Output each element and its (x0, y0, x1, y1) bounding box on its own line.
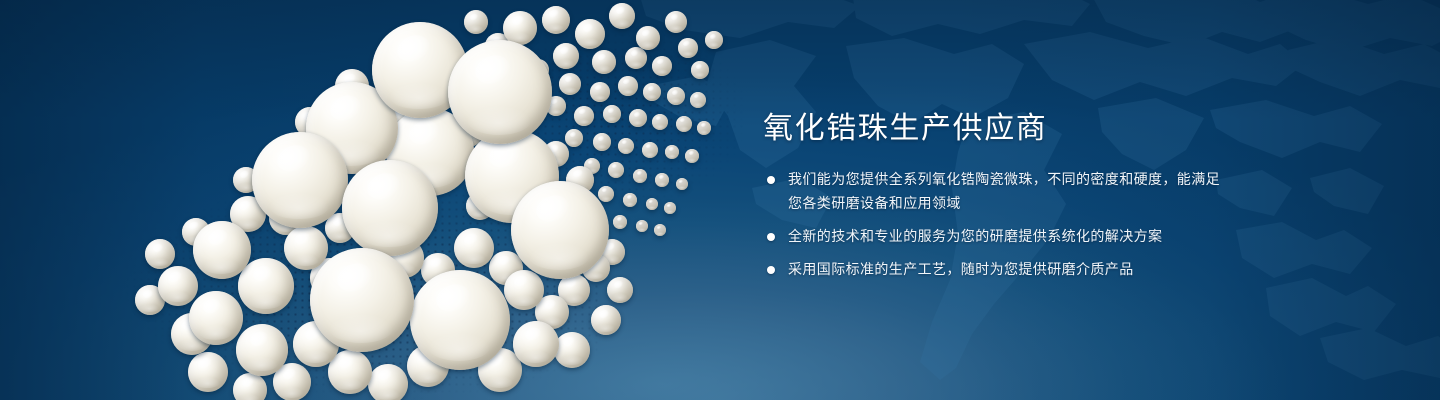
bead (667, 87, 685, 105)
bead (511, 181, 609, 279)
bead (368, 364, 408, 400)
bead (603, 105, 621, 123)
bead (642, 142, 658, 158)
bullet-dot-icon (767, 233, 775, 241)
bead (454, 228, 494, 268)
bead (236, 324, 288, 376)
bead (618, 76, 638, 96)
bead (655, 173, 669, 187)
bead (284, 226, 328, 270)
bead (238, 258, 294, 314)
bead (554, 332, 590, 368)
bead (591, 305, 621, 335)
bead (676, 116, 692, 132)
bead (252, 132, 348, 228)
bead (188, 352, 228, 392)
bead (652, 56, 672, 76)
bead (193, 221, 251, 279)
list-item-label: 采用国际标准的生产工艺，随时为您提供研磨介质产品 (788, 262, 1134, 278)
bead (633, 169, 647, 183)
bead (542, 6, 570, 34)
bead (189, 291, 243, 345)
bead (464, 10, 488, 34)
bead (310, 248, 414, 352)
bead (574, 106, 594, 126)
bead (652, 114, 668, 130)
bead (593, 133, 611, 151)
bead (158, 266, 198, 306)
bead (646, 198, 658, 210)
hero-banner: 氧化锆珠生产供应商 我们能为您提供全系列氧化锆陶瓷微珠，不同的密度和硬度，能满足… (0, 0, 1440, 400)
bead (629, 109, 647, 127)
bead (705, 31, 723, 49)
bead (623, 193, 637, 207)
bead (513, 321, 559, 367)
feature-list: 我们能为您提供全系列氧化锆陶瓷微珠，不同的密度和硬度，能满足您各类研磨设备和应用… (763, 168, 1233, 282)
bullet-dot-icon (767, 266, 775, 274)
bead (697, 121, 711, 135)
bead (636, 26, 660, 50)
bead (676, 178, 688, 190)
bead (685, 149, 699, 163)
bead (678, 38, 698, 58)
zirconia-bead-cluster-image (0, 0, 780, 400)
bead (559, 73, 581, 95)
bead (607, 277, 633, 303)
bead (636, 220, 648, 232)
bead (575, 19, 605, 49)
bead (504, 270, 544, 310)
list-item: 采用国际标准的生产工艺，随时为您提供研磨介质产品 (763, 258, 1233, 282)
bead (342, 160, 438, 256)
list-item: 全新的技术和专业的服务为您的研磨提供系统化的解决方案 (763, 225, 1233, 249)
bead (654, 224, 666, 236)
banner-copy: 氧化锆珠生产供应商 我们能为您提供全系列氧化锆陶瓷微珠，不同的密度和硬度，能满足… (763, 112, 1233, 282)
page-title: 氧化锆珠生产供应商 (763, 112, 1233, 146)
bead (691, 61, 709, 79)
bead (410, 270, 510, 370)
bead (553, 43, 579, 69)
bead (592, 50, 616, 74)
bead (690, 92, 706, 108)
bead (448, 40, 552, 144)
bead (233, 373, 267, 400)
bead (664, 202, 676, 214)
bead (598, 186, 614, 202)
list-item-label: 全新的技术和专业的服务为您的研磨提供系统化的解决方案 (788, 229, 1162, 245)
bead (625, 47, 647, 69)
list-item-label: 我们能为您提供全系列氧化锆陶瓷微珠，不同的密度和硬度，能满足您各类研磨设备和应用… (788, 172, 1220, 212)
bead (618, 138, 634, 154)
list-item: 我们能为您提供全系列氧化锆陶瓷微珠，不同的密度和硬度，能满足您各类研磨设备和应用… (763, 168, 1233, 216)
bullet-dot-icon (767, 176, 775, 184)
bead (665, 145, 679, 159)
bead (609, 3, 635, 29)
bead (590, 82, 610, 102)
bead (145, 239, 175, 269)
bead (608, 162, 624, 178)
bead (665, 11, 687, 33)
bead (565, 129, 583, 147)
bead (613, 215, 627, 229)
bead (643, 83, 661, 101)
